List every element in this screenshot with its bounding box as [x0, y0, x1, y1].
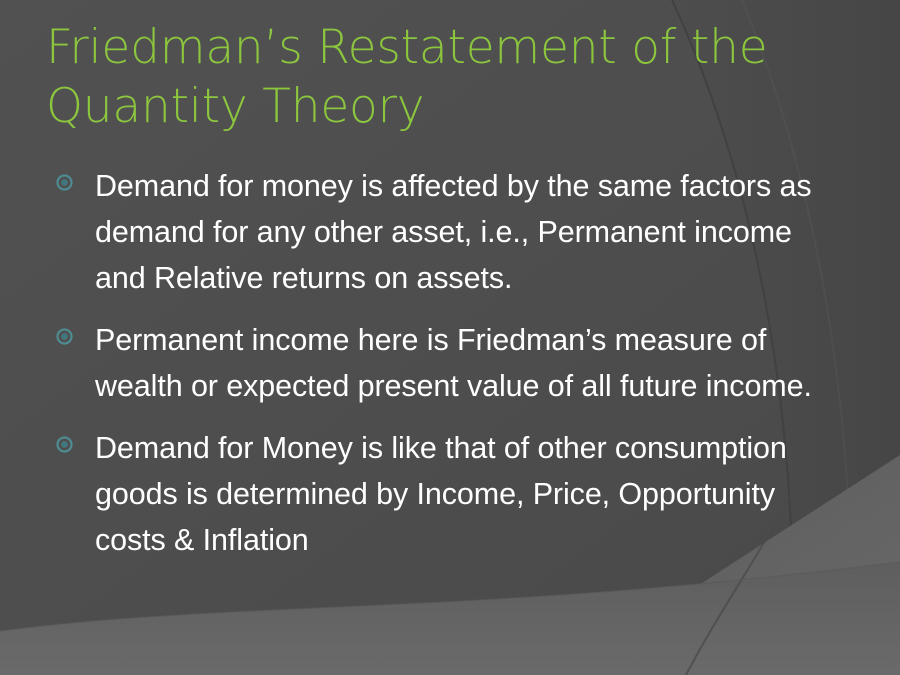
list-item: Permanent income here is Friedman’s meas…: [50, 317, 850, 409]
list-item: Demand for money is affected by the same…: [50, 163, 850, 301]
page-title: Friedman’s Restatement of the Quantity T…: [46, 18, 806, 136]
list-item: Demand for Money is like that of other c…: [50, 425, 850, 563]
bullet-list: Demand for money is affected by the same…: [50, 163, 850, 563]
list-item-label: Permanent income here is Friedman’s meas…: [95, 317, 850, 409]
presentation-slide: Friedman’s Restatement of the Quantity T…: [0, 0, 900, 675]
title-block: Friedman’s Restatement of the Quantity T…: [46, 18, 806, 136]
ring-dot-bullet-icon: [56, 174, 73, 191]
ring-dot-bullet-icon: [56, 328, 73, 345]
list-item-label: Demand for Money is like that of other c…: [95, 425, 850, 563]
ring-dot-bullet-icon: [56, 436, 73, 453]
list-item-label: Demand for money is affected by the same…: [95, 163, 850, 301]
